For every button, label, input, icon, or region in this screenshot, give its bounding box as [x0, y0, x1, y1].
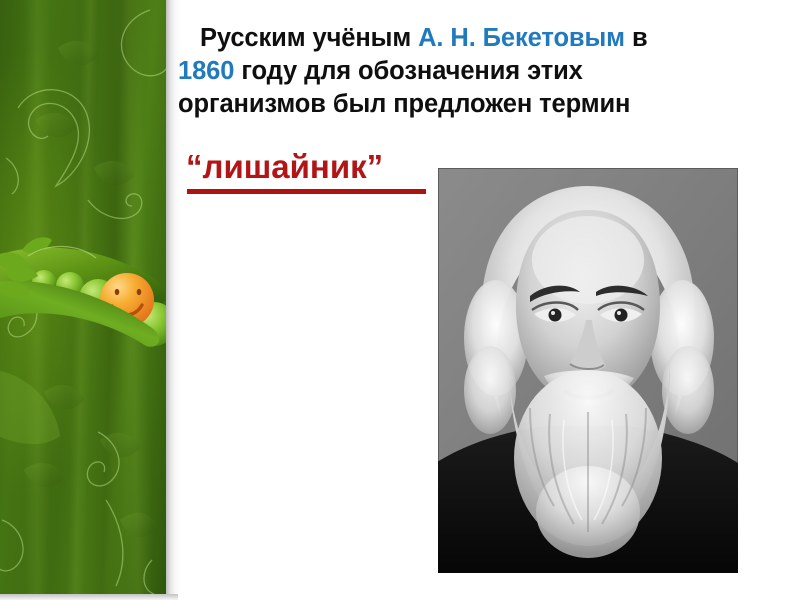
large-leaf — [0, 369, 60, 444]
portrait-photo — [438, 168, 738, 573]
pea-pod — [0, 237, 166, 347]
slide-canvas: Русским учёным А. Н. Бекетовым в 1860 го… — [0, 0, 800, 600]
vine-decoration — [0, 0, 166, 594]
scientist-name: А. Н. Бекетовым — [418, 24, 625, 52]
term-underline — [187, 189, 426, 194]
text-segment-plain-2: в — [625, 24, 648, 52]
text-segment-plain-3: году для обозначения этих организмов был… — [178, 57, 630, 118]
sidebar-bottom-shadow — [0, 594, 178, 600]
body-paragraph: Русским учёным А. Н. Бекетовым в 1860 го… — [178, 22, 703, 121]
term-lishaynik: “лишайник” — [186, 148, 383, 186]
year-highlight: 1860 — [178, 57, 234, 85]
decorative-sidebar — [0, 0, 166, 594]
text-segment-plain-1: Русским учёным — [200, 24, 418, 52]
body-text: Русским учёным А. Н. Бекетовым в 1860 го… — [178, 22, 703, 121]
portrait-illustration — [438, 168, 738, 573]
